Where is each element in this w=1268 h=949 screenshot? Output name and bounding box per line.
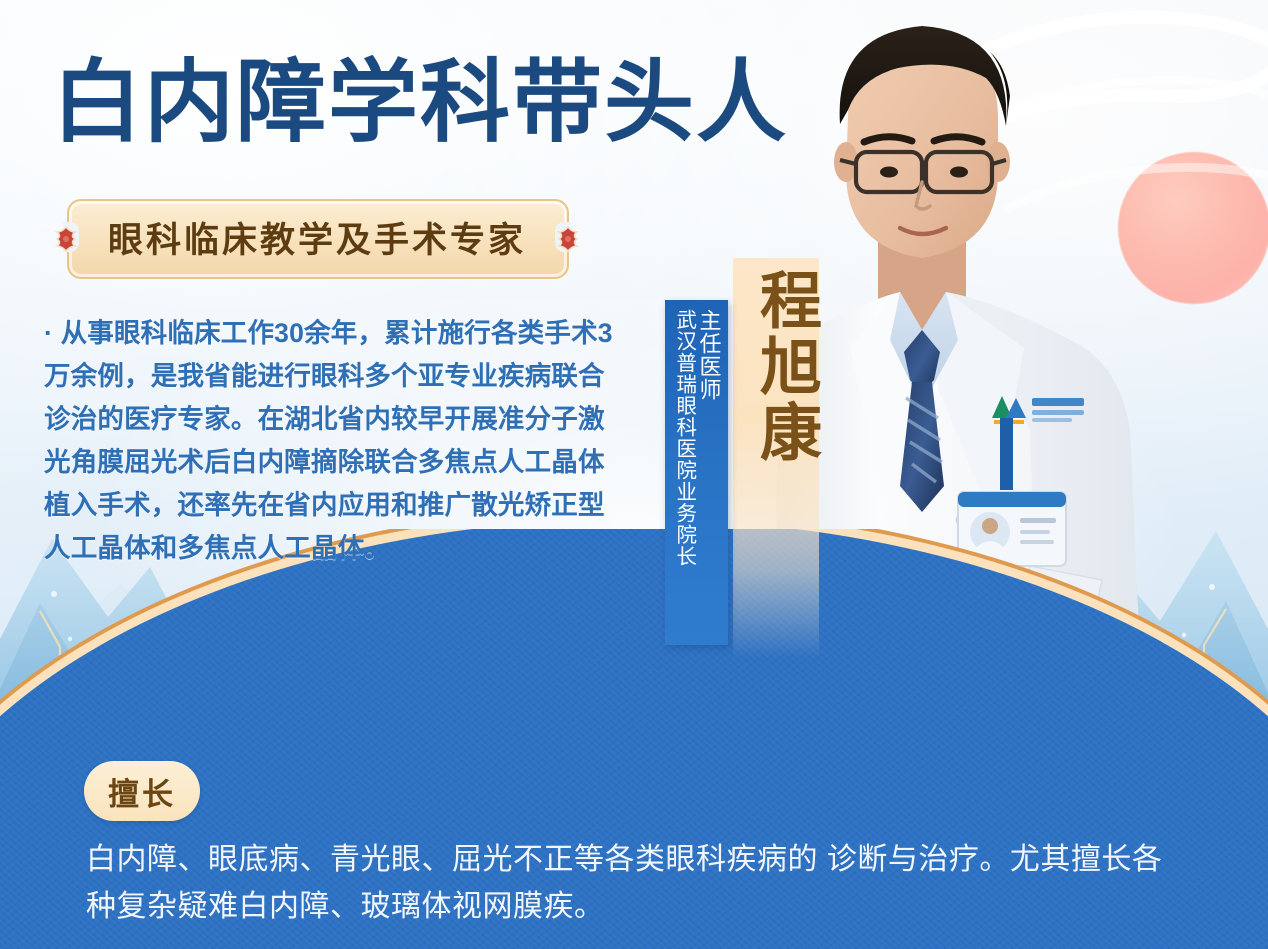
specialty-badge: 擅长 [84, 761, 200, 821]
doctor-title-secondary: 武汉普瑞眼科医院业务院长 [673, 309, 695, 645]
subtitle-text: 眼科临床教学及手术专家 [53, 199, 581, 275]
specialty-text: 白内障、眼底病、青光眼、屈光不正等各类眼科疾病的 诊断与治疗。尤其擅长各种复杂疑… [86, 836, 1186, 930]
doctor-name: 程旭康 [735, 268, 817, 466]
subtitle-plaque: 眼科临床教学及手术专家 [53, 199, 581, 275]
page-title: 白内障学科带头人 [52, 58, 788, 150]
doctor-title-banner: 主任医师 武汉普瑞眼科医院业务院长 [665, 300, 728, 645]
biography-text: · 从事眼科临床工作30余年，累计施行各类手术3万余例，是我省能进行眼科多个亚专… [44, 312, 614, 570]
doctor-title-primary: 主任医师 [697, 309, 721, 645]
poster-canvas: 白内障学科带头人 眼科临床教学及手术专家 · 从事眼科临床工作30余年，累计施行… [0, 0, 1268, 949]
